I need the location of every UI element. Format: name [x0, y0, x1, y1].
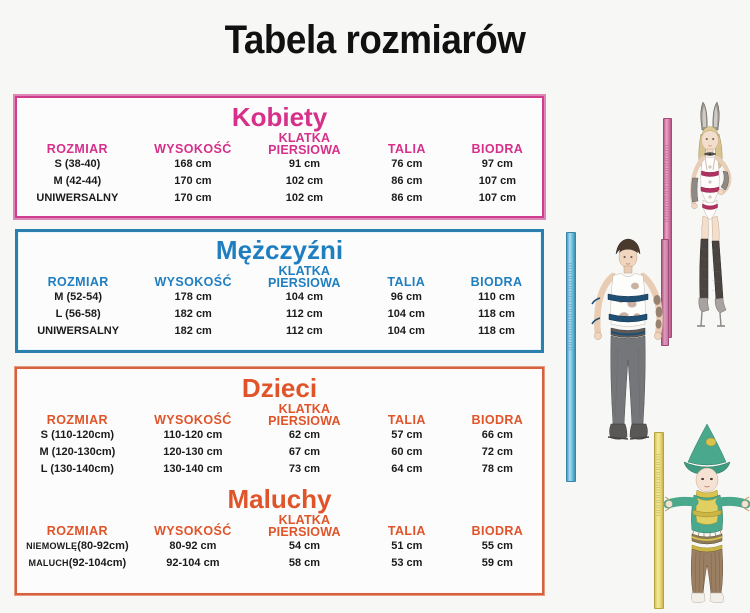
- table-header-row: ROZMIAR WYSOKOŚĆ KLATKA PIERSIOWA TALIA …: [17, 403, 542, 428]
- women-size-table-box: Kobiety ROZMIAR WYSOKOŚĆ KLATKA PIERSIOW…: [15, 96, 544, 218]
- size-chart-page: Tabela rozmiarów Kobiety ROZMIAR WYSOKOŚ…: [0, 0, 750, 613]
- kids-table-body: S (110-120cm) 110-120 cm 62 cm 57 cm 66 …: [17, 427, 542, 478]
- table-row: L (130-140cm) 130-140 cm 73 cm 64 cm 78 …: [17, 461, 542, 478]
- cell-height: 80-92 cm: [138, 538, 248, 555]
- column-header-chest: KLATKA PIERSIOWA: [248, 514, 361, 539]
- column-header-size: ROZMIAR: [17, 514, 138, 539]
- column-header-size: ROZMIAR: [17, 132, 138, 157]
- column-header-chest-line2: PIERSIOWA: [268, 525, 341, 539]
- column-header-height: WYSOKOŚĆ: [138, 132, 248, 157]
- cell-size: M (120-130cm): [17, 444, 138, 461]
- cell-height: 110-120 cm: [138, 427, 248, 444]
- table-row: MALUCH(92-104cm) 92-104 cm 58 cm 53 cm 5…: [17, 555, 542, 572]
- cell-size: S (38-40): [17, 156, 138, 173]
- cell-size: M (52-54): [18, 289, 138, 306]
- cell-waist: 96 cm: [361, 289, 453, 306]
- cell-height: 120-130 cm: [138, 444, 248, 461]
- cell-waist: 60 cm: [361, 444, 453, 461]
- cell-size: L (56-58): [18, 306, 138, 323]
- toddlers-size-table: ROZMIAR WYSOKOŚĆ KLATKA PIERSIOWA TALIA …: [17, 514, 542, 572]
- table-row: S (38-40) 168 cm 91 cm 76 cm 97 cm: [17, 156, 542, 173]
- cell-height: 182 cm: [138, 323, 248, 340]
- cell-hips: 66 cm: [453, 427, 542, 444]
- column-header-chest: KLATKA PIERSIOWA: [248, 403, 361, 428]
- cell-chest: 112 cm: [248, 306, 360, 323]
- cell-hips: 97 cm: [453, 156, 542, 173]
- column-header-hips: BIODRA: [452, 265, 541, 290]
- cell-height: 170 cm: [138, 173, 248, 190]
- cell-size: MALUCH(92-104cm): [17, 555, 138, 572]
- table-row: L (56-58) 182 cm 112 cm 104 cm 118 cm: [18, 306, 541, 323]
- cell-waist: 53 cm: [361, 555, 453, 572]
- cell-waist: 64 cm: [361, 461, 453, 478]
- cell-height: 130-140 cm: [138, 461, 248, 478]
- column-header-hips: BIODRA: [453, 403, 542, 428]
- cell-size: UNIWERSALNY: [17, 190, 138, 207]
- cell-hips: 118 cm: [452, 323, 541, 340]
- men-table-body: M (52-54) 178 cm 104 cm 96 cm 110 cm L (…: [18, 289, 541, 340]
- cell-height: 168 cm: [138, 156, 248, 173]
- column-header-chest: KLATKA PIERSIOWA: [248, 132, 361, 157]
- column-header-height: WYSOKOŚĆ: [138, 265, 248, 290]
- child-scarecrow-costume-figure: [664, 418, 750, 608]
- column-header-waist: TALIA: [361, 265, 453, 290]
- cell-waist: 86 cm: [361, 173, 453, 190]
- table-row: NIEMOWLĘ(80-92cm) 80-92 cm 54 cm 51 cm 5…: [17, 538, 542, 555]
- cell-chest: 73 cm: [248, 461, 361, 478]
- cell-waist: 104 cm: [361, 306, 453, 323]
- cell-size-word: MALUCH: [29, 558, 69, 568]
- cell-chest: 58 cm: [248, 555, 361, 572]
- cell-waist: 104 cm: [361, 323, 453, 340]
- column-header-chest-line2: PIERSIOWA: [268, 414, 341, 428]
- cell-chest: 102 cm: [248, 190, 361, 207]
- cell-hips: 107 cm: [453, 190, 542, 207]
- cell-height: 170 cm: [138, 190, 248, 207]
- cell-height: 178 cm: [138, 289, 248, 306]
- men-size-table-box: Mężczyźni ROZMIAR WYSOKOŚĆ KLATKA PIERSI…: [15, 229, 544, 353]
- section-title-women: Kobiety: [17, 98, 542, 132]
- cell-chest: 102 cm: [248, 173, 361, 190]
- cell-chest: 67 cm: [248, 444, 361, 461]
- men-table-header: ROZMIAR WYSOKOŚĆ KLATKA PIERSIOWA TALIA …: [18, 265, 541, 290]
- cell-size: L (130-140cm): [17, 461, 138, 478]
- kids-toddlers-size-table-box: Dzieci ROZMIAR WYSOKOŚĆ KLATKA PIERSIOWA…: [15, 367, 544, 595]
- women-table-body: S (38-40) 168 cm 91 cm 76 cm 97 cm M (42…: [17, 156, 542, 207]
- kids-table-header: ROZMIAR WYSOKOŚĆ KLATKA PIERSIOWA TALIA …: [17, 403, 542, 428]
- table-row: M (120-130cm) 120-130 cm 67 cm 60 cm 72 …: [17, 444, 542, 461]
- page-title: Tabela rozmiarów: [30, 18, 720, 63]
- cell-hips: 118 cm: [452, 306, 541, 323]
- men-size-table: ROZMIAR WYSOKOŚĆ KLATKA PIERSIOWA TALIA …: [18, 265, 541, 340]
- toddlers-table-header: ROZMIAR WYSOKOŚĆ KLATKA PIERSIOWA TALIA …: [17, 514, 542, 539]
- table-row: UNIWERSALNY 182 cm 112 cm 104 cm 118 cm: [18, 323, 541, 340]
- cell-waist: 57 cm: [361, 427, 453, 444]
- cell-size: NIEMOWLĘ(80-92cm): [17, 538, 138, 555]
- column-header-size: ROZMIAR: [17, 403, 138, 428]
- cell-chest: 54 cm: [248, 538, 361, 555]
- column-header-hips: BIODRA: [453, 132, 542, 157]
- table-row: S (110-120cm) 110-120 cm 62 cm 57 cm 66 …: [17, 427, 542, 444]
- blue-measuring-ruler: |||||||||||||||||||||||||||||||||||: [566, 232, 576, 482]
- cell-height: 182 cm: [138, 306, 248, 323]
- column-header-waist: TALIA: [361, 132, 453, 157]
- table-row: M (42-44) 170 cm 102 cm 86 cm 107 cm: [17, 173, 542, 190]
- cell-size-range: (92-104cm): [69, 557, 126, 569]
- column-header-waist: TALIA: [361, 514, 453, 539]
- woman-bunny-costume-figure: [676, 100, 750, 336]
- cell-hips: 55 cm: [453, 538, 542, 555]
- cell-hips: 107 cm: [453, 173, 542, 190]
- cell-hips: 78 cm: [453, 461, 542, 478]
- cell-height: 92-104 cm: [138, 555, 248, 572]
- cell-hips: 59 cm: [453, 555, 542, 572]
- column-header-waist: TALIA: [361, 403, 453, 428]
- cell-chest: 62 cm: [248, 427, 361, 444]
- column-header-height: WYSOKOŚĆ: [138, 514, 248, 539]
- toddlers-table-body: NIEMOWLĘ(80-92cm) 80-92 cm 54 cm 51 cm 5…: [17, 538, 542, 572]
- cell-hips: 72 cm: [453, 444, 542, 461]
- table-header-row: ROZMIAR WYSOKOŚĆ KLATKA PIERSIOWA TALIA …: [18, 265, 541, 290]
- cell-size-word: NIEMOWLĘ: [26, 541, 77, 551]
- cell-waist: 86 cm: [361, 190, 453, 207]
- column-header-hips: BIODRA: [453, 514, 542, 539]
- cell-waist: 76 cm: [361, 156, 453, 173]
- cell-chest: 112 cm: [248, 323, 360, 340]
- table-header-row: ROZMIAR WYSOKOŚĆ KLATKA PIERSIOWA TALIA …: [17, 132, 542, 157]
- section-title-kids: Dzieci: [17, 369, 542, 403]
- column-header-chest: KLATKA PIERSIOWA: [248, 265, 360, 290]
- section-title-toddlers: Maluchy: [17, 478, 542, 514]
- cell-hips: 110 cm: [452, 289, 541, 306]
- column-header-chest-line2: PIERSIOWA: [268, 143, 341, 157]
- cell-size-range: (80-92cm): [77, 540, 128, 552]
- column-header-size: ROZMIAR: [18, 265, 138, 290]
- table-header-row: ROZMIAR WYSOKOŚĆ KLATKA PIERSIOWA TALIA …: [17, 514, 542, 539]
- ruler-tick-marks: |||||||||||||||||||||||||||||||||||: [569, 263, 574, 352]
- column-header-chest-line2: PIERSIOWA: [268, 276, 341, 290]
- ruler-tick-marks: |||||||||||||||||||||||||||||||: [665, 145, 670, 224]
- women-table-header: ROZMIAR WYSOKOŚĆ KLATKA PIERSIOWA TALIA …: [17, 132, 542, 157]
- cell-size: S (110-120cm): [17, 427, 138, 444]
- cell-chest: 104 cm: [248, 289, 360, 306]
- section-title-men: Mężczyźni: [18, 232, 541, 265]
- column-header-height: WYSOKOŚĆ: [138, 403, 248, 428]
- cell-size: UNIWERSALNY: [18, 323, 138, 340]
- cell-size: M (42-44): [17, 173, 138, 190]
- table-row: UNIWERSALNY 170 cm 102 cm 86 cm 107 cm: [17, 190, 542, 207]
- table-row: M (52-54) 178 cm 104 cm 96 cm 110 cm: [18, 289, 541, 306]
- cell-waist: 51 cm: [361, 538, 453, 555]
- kids-size-table: ROZMIAR WYSOKOŚĆ KLATKA PIERSIOWA TALIA …: [17, 403, 542, 478]
- man-measuring-tape-figure: [580, 228, 676, 480]
- women-size-table: ROZMIAR WYSOKOŚĆ KLATKA PIERSIOWA TALIA …: [17, 132, 542, 207]
- cell-chest: 91 cm: [248, 156, 361, 173]
